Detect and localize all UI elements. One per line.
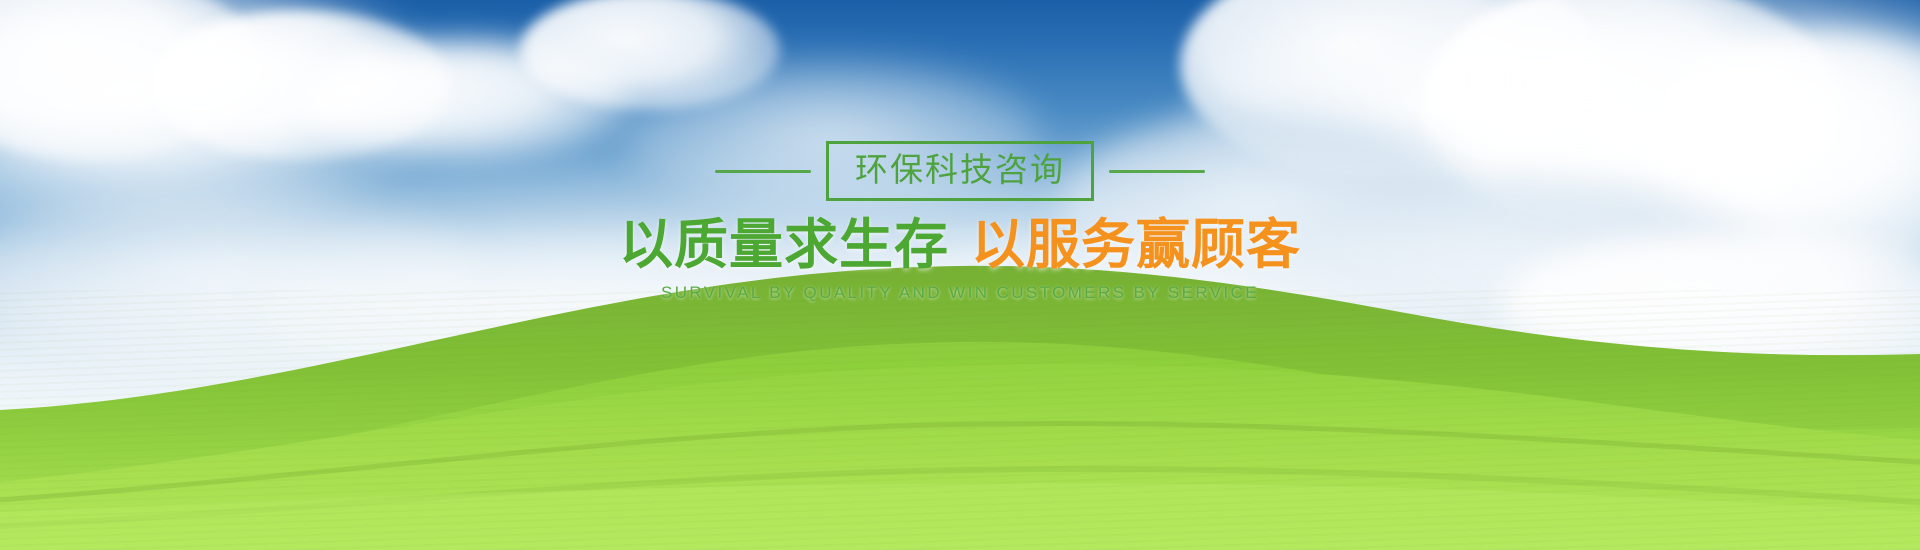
eyebrow-row: 环保科技咨询 — [0, 140, 1920, 202]
boxed-title-text: 环保科技咨询 — [855, 153, 1065, 186]
hero-banner: 环保科技咨询 以质量求生存以服务赢顾客 SURVIVAL BY QUALITY … — [0, 0, 1920, 550]
headline-orange-text: 以服务赢顾客 — [971, 213, 1301, 276]
boxed-title: 环保科技咨询 — [826, 141, 1094, 201]
decorative-rule-left — [715, 170, 811, 173]
decorative-rule-right — [1109, 170, 1205, 173]
headline-green-text: 以质量求生存 — [619, 213, 949, 276]
headline: 以质量求生存以服务赢顾客 — [0, 216, 1920, 273]
banner-text-block: 环保科技咨询 以质量求生存以服务赢顾客 SURVIVAL BY QUALITY … — [0, 140, 1920, 303]
subline-text: SURVIVAL BY QUALITY AND WIN CUSTOMERS BY… — [0, 283, 1920, 303]
